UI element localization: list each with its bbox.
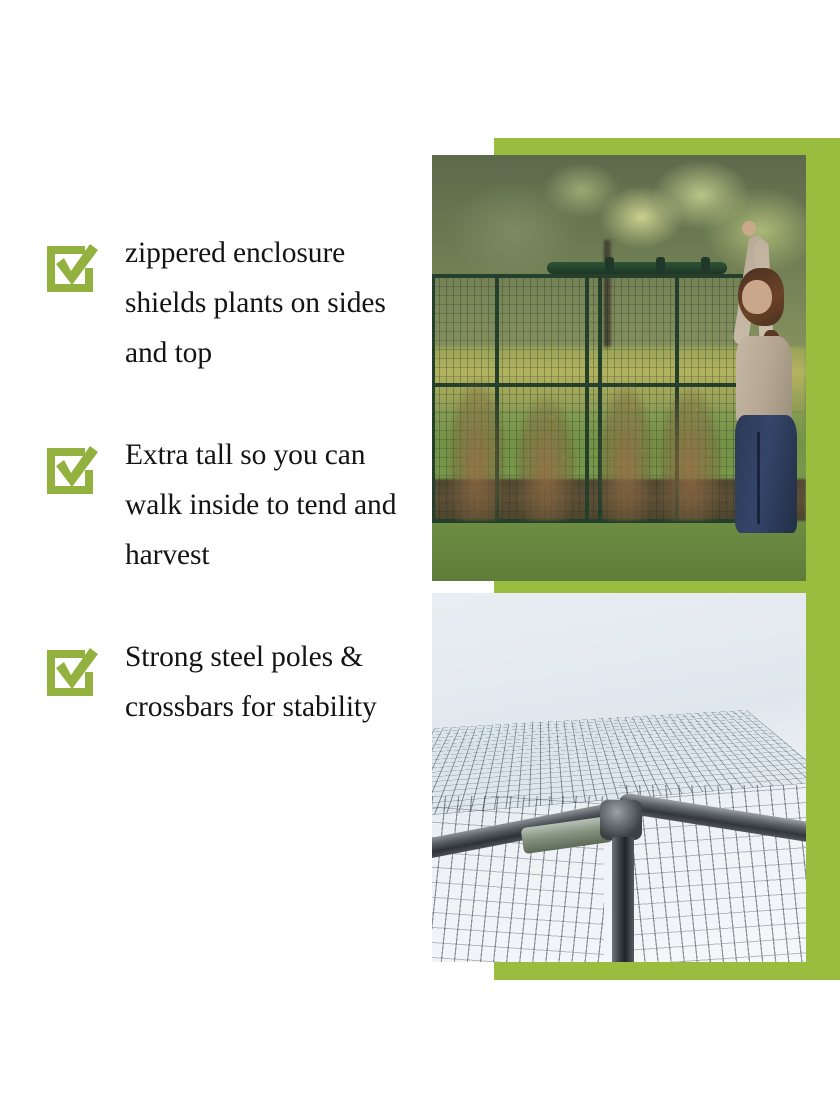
feature-list: zippered enclosure shields plants on sid… xyxy=(41,228,416,732)
person-legs xyxy=(735,415,797,533)
feature-text: zippered enclosure shields plants on sid… xyxy=(125,228,415,378)
person-leg-seam xyxy=(757,432,760,524)
person-gardening xyxy=(720,257,795,538)
feature-text: Strong steel poles & crossbars for stabi… xyxy=(125,632,415,732)
cage-clip xyxy=(605,257,614,274)
list-item: zippered enclosure shields plants on sid… xyxy=(41,228,416,378)
cage-crossbar xyxy=(547,262,727,274)
feature-text: Extra tall so you can walk inside to ten… xyxy=(125,430,415,580)
photo-garden-crop-cage xyxy=(432,155,806,581)
checkbox-checked-icon xyxy=(41,236,101,296)
checkbox-checked-icon xyxy=(41,438,101,498)
person-head xyxy=(742,280,772,314)
plant xyxy=(514,394,578,522)
steel-vertical-pole xyxy=(612,837,634,962)
photo-cage-corner-detail xyxy=(432,593,806,962)
product-feature-page: zippered enclosure shields plants on sid… xyxy=(0,0,840,1120)
cage-clip xyxy=(701,257,710,274)
list-item: Extra tall so you can walk inside to ten… xyxy=(41,430,416,580)
cage-post xyxy=(585,274,589,521)
checkbox-checked-icon xyxy=(41,640,101,700)
media-column xyxy=(432,138,840,983)
plant xyxy=(597,381,657,522)
cage-clip xyxy=(656,257,665,274)
plant xyxy=(447,377,507,522)
cage-post xyxy=(432,274,435,521)
list-item: Strong steel poles & crossbars for stabi… xyxy=(41,632,416,732)
corner-joint-connector xyxy=(600,800,642,840)
plant xyxy=(656,385,723,521)
